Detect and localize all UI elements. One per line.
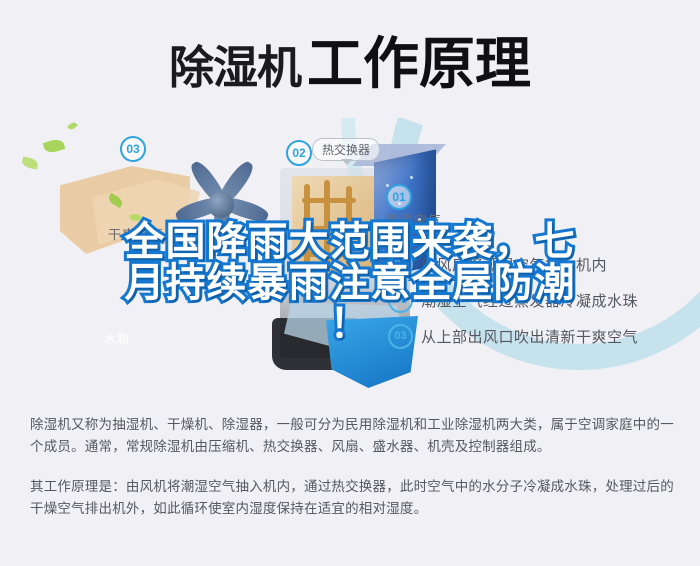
legend-item: 02 潮湿空气经过蒸发器冷凝成水珠 — [388, 282, 688, 318]
heat-exchanger-callout: 热交换器 — [312, 138, 380, 161]
callout-badge-02: 02 — [286, 140, 312, 166]
callout-badge-03: 03 — [120, 136, 146, 162]
legend-item: 01 用风扇将潮湿空气抽入机内 — [388, 246, 688, 282]
humid-air-label: 潮湿空气 — [386, 210, 442, 229]
callout-badge-01: 01 — [386, 184, 412, 210]
legend-text-01: 用风扇将潮湿空气抽入机内 — [421, 254, 607, 275]
legend-badge-03: 03 — [388, 324, 413, 349]
leaf-icon — [43, 137, 66, 155]
water-tank-label: 水箱 — [104, 330, 130, 347]
fan-icon — [166, 154, 276, 254]
title-wrap: 除湿机 工作原理 — [169, 36, 531, 92]
leaf-icon — [67, 121, 78, 131]
leaf-icon — [21, 156, 39, 169]
legend-text-02: 潮湿空气经过蒸发器冷凝成水珠 — [421, 290, 638, 311]
legend-badge-01: 01 — [388, 252, 413, 277]
legend-badge-02: 02 — [388, 288, 413, 313]
illustration-stage: 干爽空气 — [0, 118, 700, 403]
dry-air-label: 干爽空气 — [108, 224, 164, 243]
title-part-one: 除湿机 — [169, 45, 301, 90]
legend-list: 01 用风扇将潮湿空气抽入机内 02 潮湿空气经过蒸发器冷凝成水珠 03 从上部… — [388, 246, 688, 354]
title-part-two: 工作原理 — [307, 36, 531, 92]
poster-root: 除湿机 工作原理 干爽空气 — [0, 0, 700, 566]
body-paragraph-2: 其工作原理是：由风机将潮湿空气抽入机内，通过热交换器，此时空气中的水分子冷凝成水… — [30, 476, 675, 520]
body-paragraph-1: 除湿机又称为抽湿机、干燥机、除湿器，一般可分为民用除湿机和工业除湿机两大类，属于… — [30, 414, 675, 458]
legend-item: 03 从上部出风口吹出清新干爽空气 — [388, 318, 688, 354]
legend-text-03: 从上部出风口吹出清新干爽空气 — [421, 326, 638, 347]
poster-title: 除湿机 工作原理 — [0, 0, 700, 120]
body-copy: 除湿机又称为抽湿机、干燥机、除湿器，一般可分为民用除湿机和工业除湿机两大类，属于… — [30, 414, 675, 520]
